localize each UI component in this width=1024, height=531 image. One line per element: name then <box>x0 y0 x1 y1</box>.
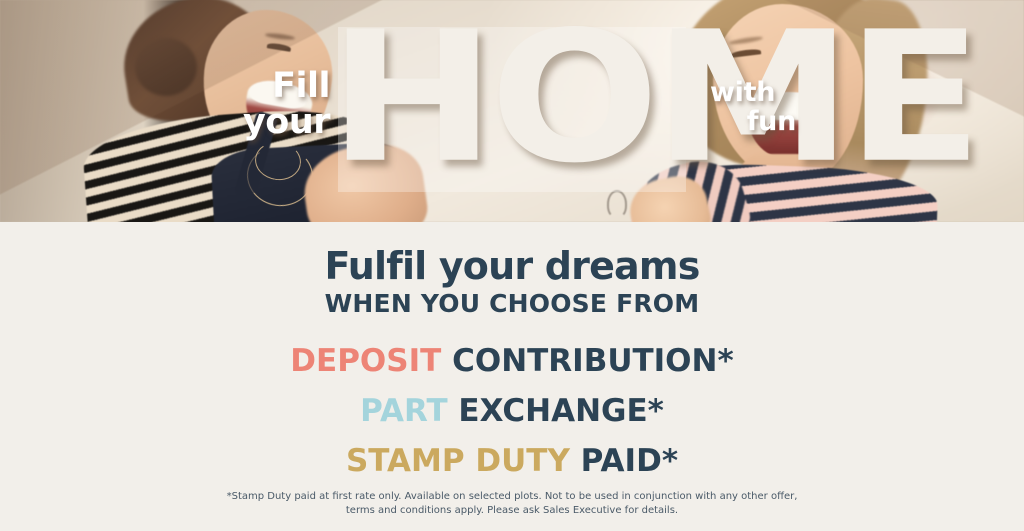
offers-panel: Fulfil your dreams WHEN YOU CHOOSE FROM … <box>0 222 1024 531</box>
disclaimer-text: *Stamp Duty paid at first rate only. Ava… <box>212 490 812 518</box>
hero-overline-left-line1: Fill <box>272 66 330 106</box>
offers-list: DEPOSIT CONTRIBUTION* PART EXCHANGE* STA… <box>0 319 1024 486</box>
hero-image: HOME Fill your with fun <box>0 0 1024 222</box>
hero-overline-right-line2: fun <box>690 107 860 136</box>
hero-overline-right: with fun <box>690 78 860 136</box>
offer-item-stamp-duty-paid: STAMP DUTY PAID* <box>0 436 1024 486</box>
offer-rest-deposit: CONTRIBUTION* <box>441 343 733 379</box>
offer-item-deposit-contribution: DEPOSIT CONTRIBUTION* <box>0 336 1024 386</box>
disclaimer-line-1: *Stamp Duty paid at first rate only. Ava… <box>227 491 798 502</box>
panel-subheadline: WHEN YOU CHOOSE FROM <box>0 288 1024 319</box>
hero-overline-left: Fill your <box>150 68 330 140</box>
offer-accent-part: PART <box>360 393 448 429</box>
hero-overline-left-line2: your <box>243 102 330 142</box>
panel-headline: Fulfil your dreams <box>0 222 1024 288</box>
offer-rest-part: EXCHANGE* <box>448 393 664 429</box>
hero-big-word: HOME <box>328 8 695 188</box>
hero-overline-right-line1: with <box>690 78 860 107</box>
offer-item-part-exchange: PART EXCHANGE* <box>0 386 1024 436</box>
offer-accent-stamp: STAMP DUTY <box>346 443 570 479</box>
offer-rest-stamp: PAID* <box>570 443 678 479</box>
disclaimer-line-2: terms and conditions apply. Please ask S… <box>346 505 678 516</box>
offer-accent-deposit: DEPOSIT <box>290 343 441 379</box>
promotional-banner: HOME Fill your with fun Fulfil your drea… <box>0 0 1024 531</box>
